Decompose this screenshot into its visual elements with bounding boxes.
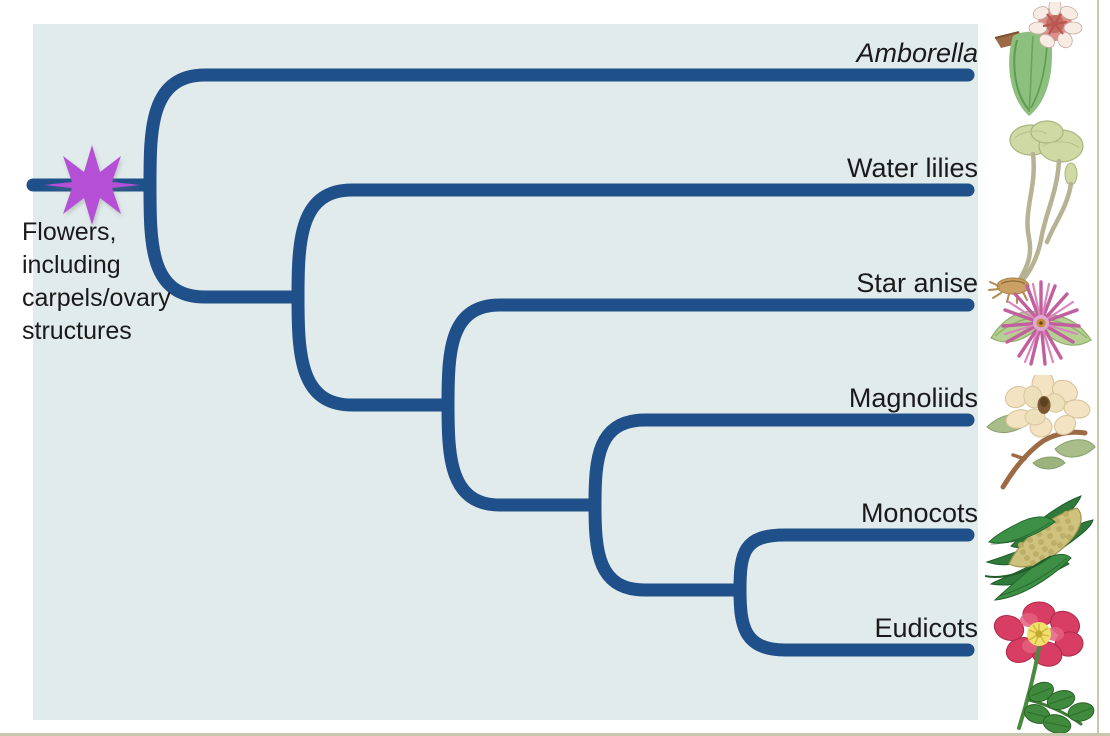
root-annotation-line-3: carpels/ovary [22,282,222,315]
diagram-panel [33,24,978,720]
taxon-label-magnoliids: Magnoliids [849,385,978,412]
root-annotation-line-1: Flowers, [22,216,222,249]
illustration-maize-ear [985,490,1097,610]
illustration-column [985,0,1097,736]
root-annotation: Flowers, including carpels/ovary structu… [22,216,222,348]
taxon-label-monocots: Monocots [861,500,978,527]
illustration-amborella-flower [985,2,1097,122]
taxon-label-star-anise: Star anise [856,270,978,297]
illustration-rose-flower [985,600,1097,736]
taxon-label-water-lilies: Water lilies [847,155,978,182]
taxon-label-amborella: Amborella [856,40,978,67]
page-border-right [1097,0,1099,736]
figure-canvas: Amborella Water lilies Star anise Magnol… [0,0,1110,736]
taxon-label-eudicots: Eudicots [874,615,978,642]
root-annotation-line-4: structures [22,315,222,348]
root-annotation-line-2: including [22,249,222,282]
illustration-magnolia-flower [985,375,1097,495]
illustration-star-anise-flower [985,268,1097,378]
